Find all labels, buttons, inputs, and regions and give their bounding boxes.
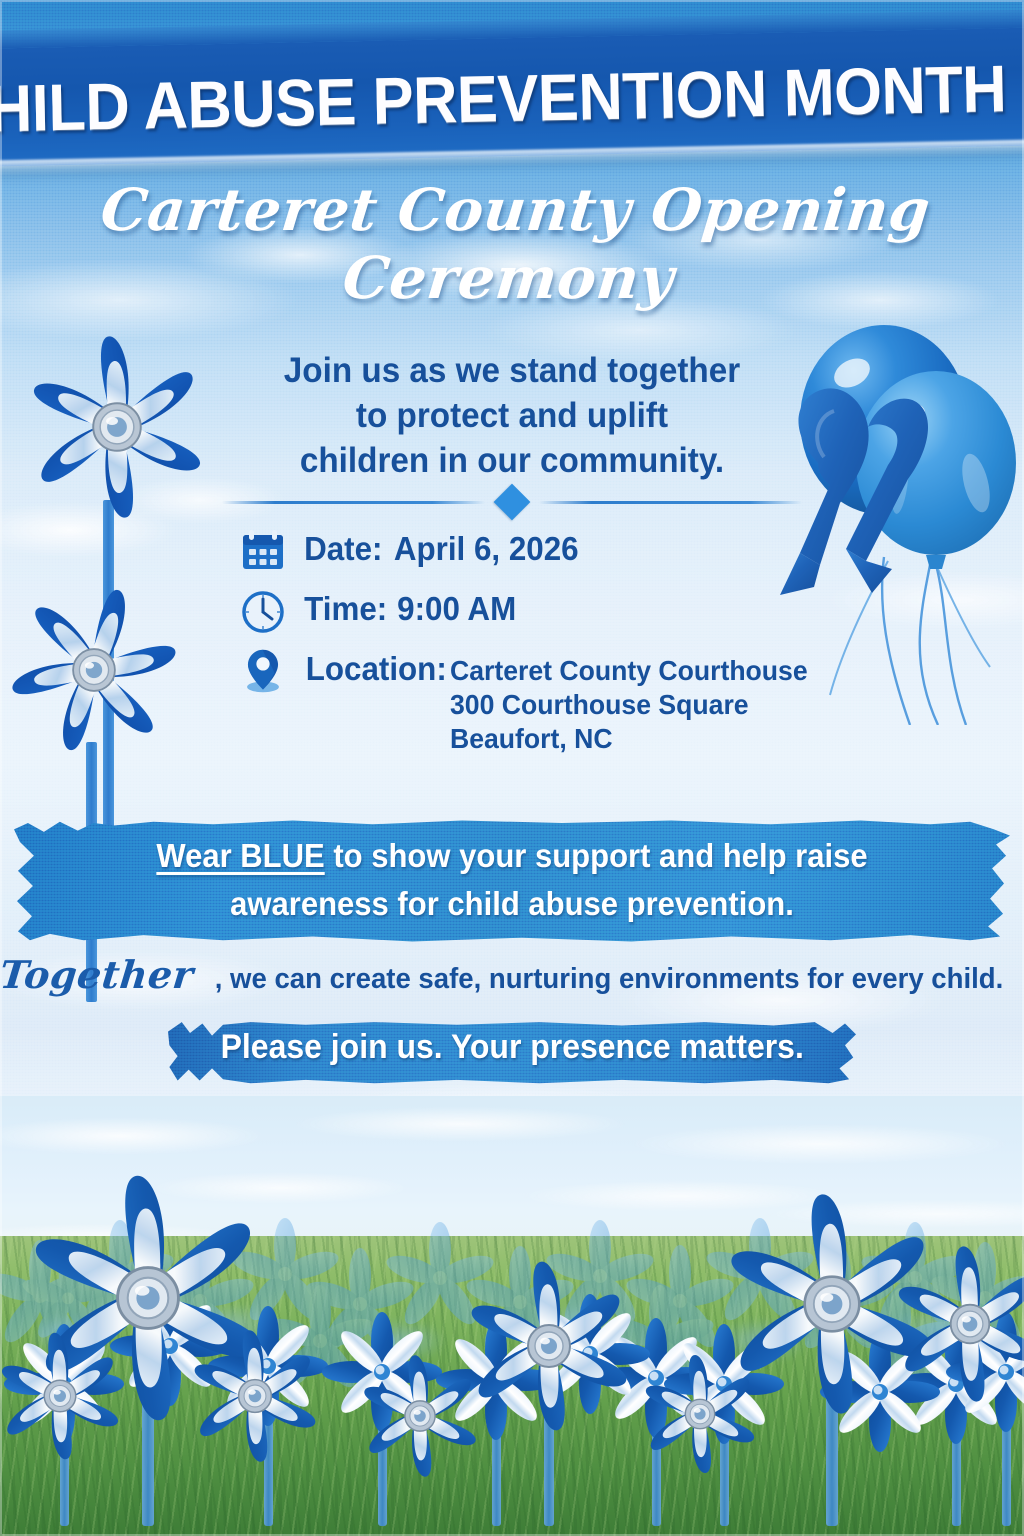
detail-label-date: Date: [304,530,382,568]
together-script-word: Together [0,952,196,997]
divider-line-right [539,501,802,504]
detail-row-date: Date: April 6, 2026 [240,528,880,574]
clock-icon [240,588,286,634]
lead-paragraph: Join us as we stand together to protect … [0,348,1024,483]
pinwheel-field-illustration [0,1096,1024,1536]
detail-label-location: Location: [306,650,447,688]
divider-line-left [222,501,485,504]
page-title: CHILD ABUSE PREVENTION MONTH [0,50,1007,147]
detail-value-date: April 6, 2026 [394,530,579,568]
detail-value-time: 9:00 AM [397,590,516,628]
wear-blue-rest: to show your support and help raise [325,837,868,874]
event-details: Date: April 6, 2026 Time: 9:00 AM [240,528,880,770]
wear-blue-line-2: awareness for child abuse prevention. [31,880,994,928]
closing-text: Please join us. Your presence matters. [220,1028,803,1067]
location-line-1: Carteret County Courthouse [450,654,808,688]
together-line: Together, we can create safe, nurturing … [0,952,1024,997]
divider [222,482,802,522]
detail-label-time: Time: [304,590,387,628]
pinwheel-icon [0,570,194,770]
lead-line-1: Join us as we stand together [26,348,999,393]
field-pinwheels [0,1096,1024,1536]
poster-canvas: CHILD ABUSE PREVENTION MONTH Carteret Co… [0,0,1024,1536]
wear-blue-emphasis: Wear BLUE [156,837,324,874]
map-pin-icon [240,648,286,694]
detail-row-time: Time: 9:00 AM [240,588,880,634]
together-rest-text: , we can create safe, nurturing environm… [214,963,1002,996]
header-content: CHILD ABUSE PREVENTION MONTH [0,34,1024,163]
calendar-icon [240,528,286,574]
detail-row-location: Location: Carteret County Courthouse 300… [240,648,880,756]
location-line-2: 300 Courthouse Square [450,688,808,722]
closing-banner-text: Please join us. Your presence matters. [0,1028,1024,1067]
wear-blue-line-1: Wear BLUE to show your support and help … [31,832,994,880]
wear-blue-text: Wear BLUE to show your support and help … [0,832,1024,928]
subtitle: Carteret County Opening Ceremony [0,176,1024,312]
location-line-3: Beaufort, NC [450,722,808,756]
lead-line-3: children in our community. [26,438,999,483]
lead-line-2: to protect and uplift [26,393,999,438]
diamond-ornament-icon [494,484,531,521]
subtitle-text: Carteret County Opening Ceremony [0,176,1024,312]
